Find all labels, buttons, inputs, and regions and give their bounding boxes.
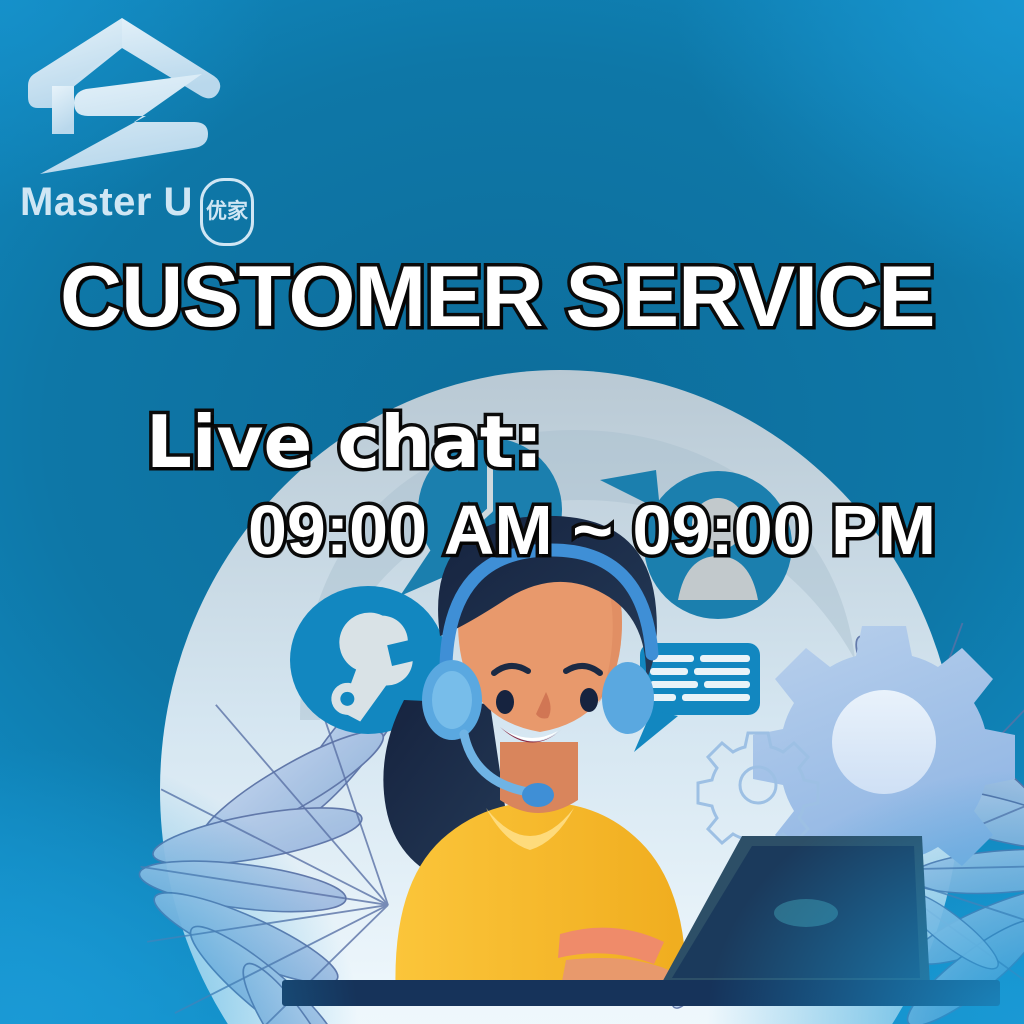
brand-badge: 优家 [200, 178, 254, 246]
brand-logo[interactable]: Master U 优家 [14, 12, 274, 234]
live-chat-label: Live chat: [146, 400, 543, 484]
house-lightning-logo-icon [26, 12, 226, 180]
desk-bar [282, 980, 1000, 1006]
live-chat-hours: 09:00 AM ~ 09:00 PM [248, 490, 936, 570]
brand-name: Master U [20, 182, 193, 222]
page-title: CUSTOMER SERVICE [60, 248, 934, 347]
poster-canvas: Master U 优家 CUSTOMER SERVICE Live chat: … [0, 0, 1024, 1024]
